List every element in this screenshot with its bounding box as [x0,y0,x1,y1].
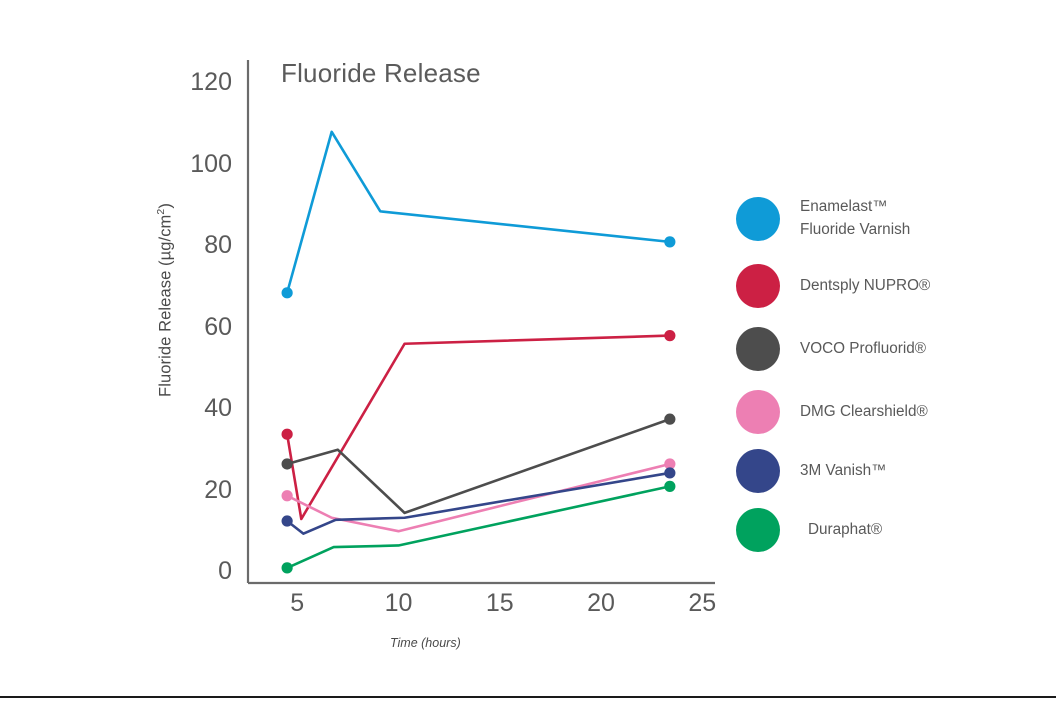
legend-item[interactable]: Duraphat® [736,508,882,552]
x-axis-title: Time (hours) [390,636,461,650]
legend-swatch-circle-icon [736,264,780,308]
y-tick-label: 120 [120,68,232,97]
plot-canvas [0,0,730,690]
series-end-marker [664,481,675,492]
series-end-marker [664,330,675,341]
series-start-marker [282,490,293,501]
series-start-marker [282,287,293,298]
series-end-marker [664,414,675,425]
series-line [287,336,670,519]
x-tick-label: 15 [450,589,550,618]
chart-title: Fluoride Release [281,58,481,89]
series-start-marker [282,429,293,440]
chart-page: Fluoride Release (µg/cm2) Fluoride Relea… [0,0,1056,705]
x-tick-label: 10 [349,589,449,618]
legend-item-label: DMG Clearshield® [800,401,928,424]
legend-item[interactable]: VOCO Profluorid® [736,327,926,371]
legend-item-label: Duraphat® [808,519,882,542]
y-tick-label: 20 [120,476,232,505]
legend-item-label: Dentsply NUPRO® [800,275,930,298]
series-1 [282,330,676,519]
series-line [287,473,670,534]
fluoride-release-chart: Fluoride Release (µg/cm2) Fluoride Relea… [0,0,730,690]
y-tick-label: 40 [120,394,232,423]
y-tick-label: 100 [120,150,232,179]
bottom-divider [0,696,1056,698]
legend-swatch-circle-icon [736,197,780,241]
y-tick-label: 80 [120,231,232,260]
series-start-marker [282,562,293,573]
legend-item[interactable]: DMG Clearshield® [736,390,928,434]
legend-swatch-circle-icon [736,390,780,434]
y-axis-title-exponent: 2 [155,209,167,215]
x-tick-label: 20 [551,589,651,618]
y-axis-title-close-paren: ) [157,203,175,209]
legend-item-label: Enamelast™ Fluoride Varnish [800,196,910,241]
x-tick-label: 5 [247,589,347,618]
legend-swatch-circle-icon [736,449,780,493]
legend-swatch-circle-icon [736,508,780,552]
y-tick-label: 0 [120,557,232,586]
legend-item[interactable]: Dentsply NUPRO® [736,264,930,308]
series-end-marker [664,236,675,247]
legend-item[interactable]: Enamelast™ Fluoride Varnish [736,196,910,241]
legend-swatch-circle-icon [736,327,780,371]
series-line [287,132,670,293]
series-5 [282,481,676,574]
x-tick-label: 25 [652,589,752,618]
y-tick-label: 60 [120,313,232,342]
series-line [287,486,670,568]
series-end-marker [664,467,675,478]
series-0 [282,132,676,299]
series-start-marker [282,458,293,469]
legend-item-label: 3M Vanish™ [800,460,886,483]
legend-item[interactable]: 3M Vanish™ [736,449,886,493]
legend-item-label: VOCO Profluorid® [800,338,926,361]
series-start-marker [282,515,293,526]
